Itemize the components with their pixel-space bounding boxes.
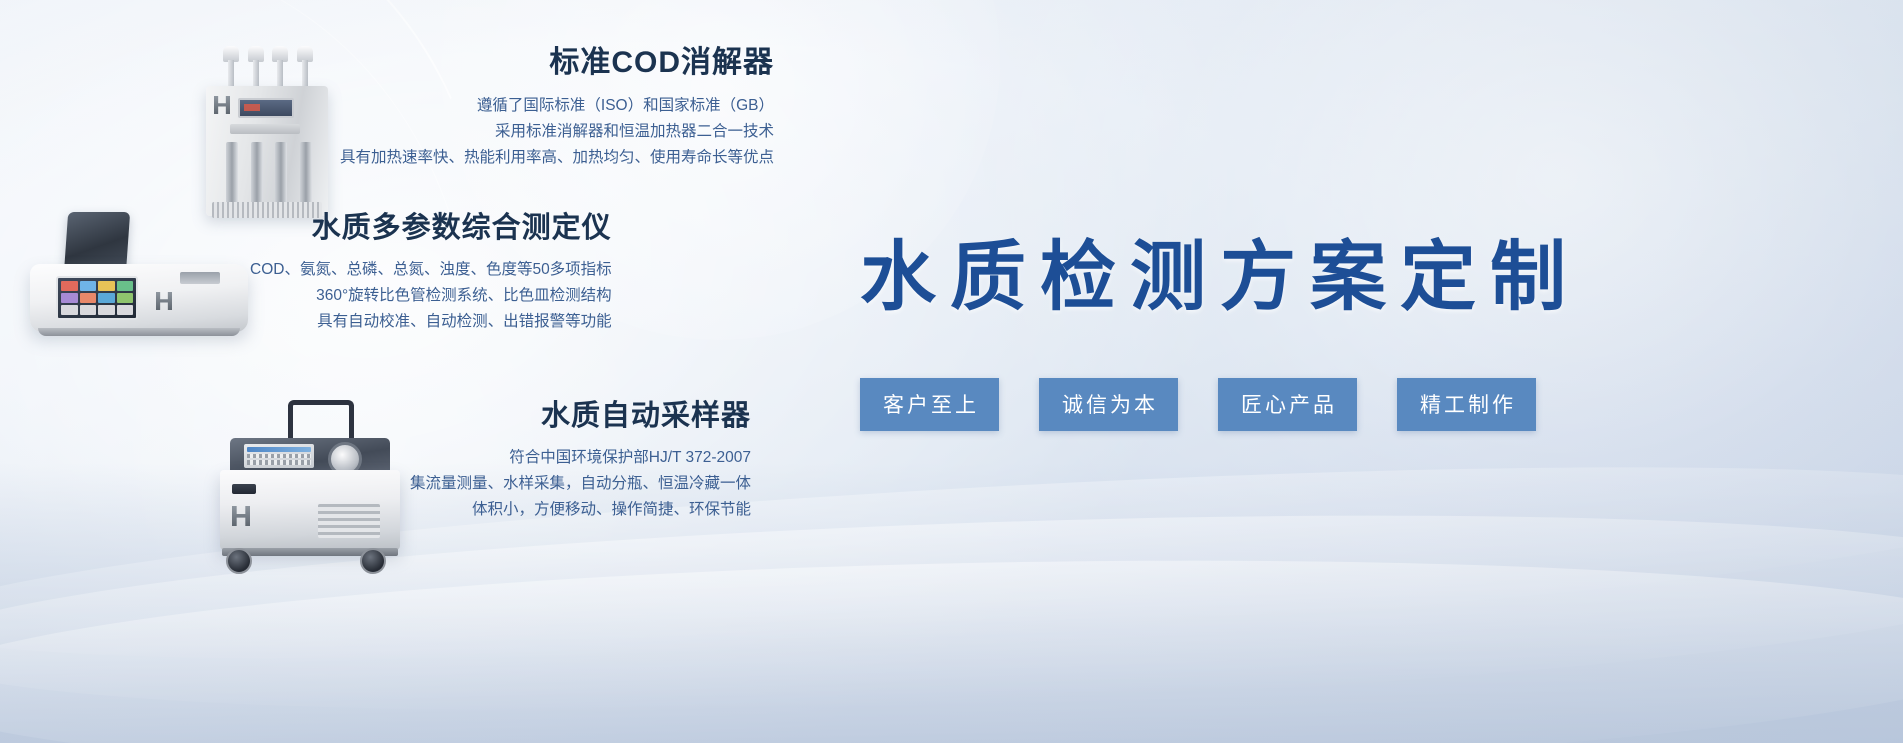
digester-control-panel bbox=[230, 124, 300, 134]
auto-sampler-desc-line-3: 体积小，方便移动、操作简捷、环保节能 bbox=[410, 497, 751, 523]
tag-craftsmanship[interactable]: 匠心产品 bbox=[1218, 378, 1357, 431]
analyzer-foot bbox=[38, 328, 240, 336]
product-block-multi-parameter-analyzer: 水质多参数综合测定仪 COD、氨氮、总磷、总氮、浊度、色度等50多项指标 360… bbox=[30, 212, 612, 342]
tag-customer-first[interactable]: 客户至上 bbox=[860, 378, 999, 431]
sampler-vent-grill bbox=[318, 504, 380, 538]
digester-display-screen bbox=[238, 98, 294, 118]
cod-digester-description: 遵循了国际标准（ISO）和国家标准（GB） 采用标准消解器和恒温加热器二合一技术… bbox=[340, 93, 774, 171]
analyzer-desc-line-1: COD、氨氮、总磷、总氮、浊度、色度等50多项指标 bbox=[250, 257, 612, 283]
product-block-cod-digester: 标准COD消解器 遵循了国际标准（ISO）和国家标准（GB） 采用标准消解器和恒… bbox=[200, 46, 774, 226]
auto-sampler-desc-line-2: 集流量测量、水样采集，自动分瓶、恒温冷藏一体 bbox=[410, 471, 751, 497]
hero-section: 水质检测方案定制 客户至上 诚信为本 匠心产品 精工制作 bbox=[860, 236, 1870, 431]
cod-digester-title: 标准COD消解器 bbox=[358, 46, 774, 81]
multi-parameter-analyzer-description: COD、氨氮、总磷、总氮、浊度、色度等50多项指标 360°旋转比色管检测系统、… bbox=[250, 257, 612, 335]
auto-sampler-description: 符合中国环境保护部HJ/T 372-2007 集流量测量、水样采集，自动分瓶、恒… bbox=[410, 445, 751, 523]
cod-digester-desc-line-1: 遵循了国际标准（ISO）和国家标准（GB） bbox=[340, 93, 774, 119]
sampler-control-panel bbox=[244, 444, 314, 468]
product-block-auto-sampler: 水质自动采样器 符合中国环境保护部HJ/T 372-2007 集流量测量、水样采… bbox=[210, 400, 751, 578]
hero-tag-list: 客户至上 诚信为本 匠心产品 精工制作 bbox=[860, 378, 1870, 431]
page-title: 水质检测方案定制 bbox=[860, 236, 1870, 320]
digester-tube-racks bbox=[226, 142, 312, 208]
cod-digester-desc-line-2: 采用标准消解器和恒温加热器二合一技术 bbox=[340, 119, 774, 145]
multi-parameter-analyzer-title: 水质多参数综合测定仪 bbox=[250, 212, 612, 245]
multi-parameter-analyzer-photo bbox=[30, 212, 250, 342]
analyzer-touch-screen bbox=[56, 276, 138, 320]
auto-sampler-desc-line-1: 符合中国环境保护部HJ/T 372-2007 bbox=[410, 445, 751, 471]
cod-digester-photo bbox=[200, 46, 340, 226]
sampler-wheel-left bbox=[226, 548, 252, 574]
cod-digester-desc-line-3: 具有加热速率快、热能利用率高、加热均匀、使用寿命长等优点 bbox=[340, 145, 774, 171]
sampler-wheel-right bbox=[360, 548, 386, 574]
auto-sampler-text: 水质自动采样器 符合中国环境保护部HJ/T 372-2007 集流量测量、水样采… bbox=[410, 400, 751, 523]
analyzer-cuvette-well bbox=[180, 272, 220, 284]
analyzer-desc-line-3: 具有自动校准、自动检测、出错报警等功能 bbox=[250, 309, 612, 335]
tag-fine-production[interactable]: 精工制作 bbox=[1397, 378, 1536, 431]
analyzer-desc-line-2: 360°旋转比色管检测系统、比色皿检测结构 bbox=[250, 283, 612, 309]
cod-digester-text: 标准COD消解器 遵循了国际标准（ISO）和国家标准（GB） 采用标准消解器和恒… bbox=[340, 46, 774, 171]
multi-parameter-analyzer-text: 水质多参数综合测定仪 COD、氨氮、总磷、总氮、浊度、色度等50多项指标 360… bbox=[250, 212, 612, 335]
auto-sampler-title: 水质自动采样器 bbox=[410, 400, 751, 433]
auto-sampler-photo bbox=[210, 400, 410, 578]
water-quality-banner: 标准COD消解器 遵循了国际标准（ISO）和国家标准（GB） 采用标准消解器和恒… bbox=[0, 0, 1903, 743]
tag-integrity[interactable]: 诚信为本 bbox=[1039, 378, 1178, 431]
sampler-door-handle bbox=[232, 484, 256, 494]
